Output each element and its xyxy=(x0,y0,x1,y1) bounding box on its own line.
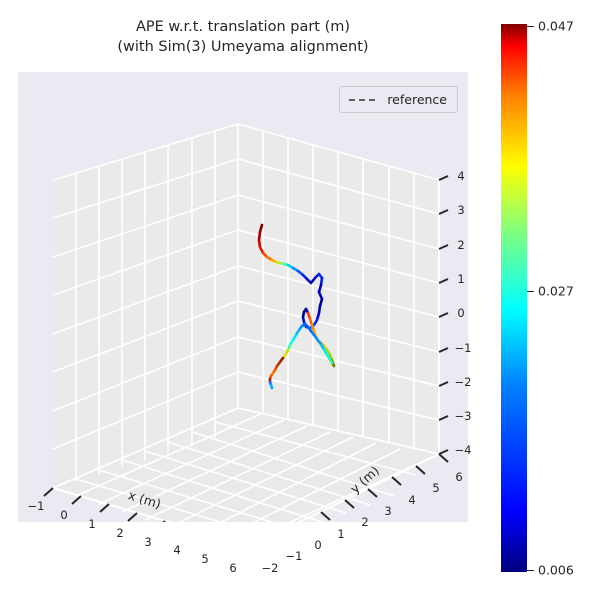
colorbar-tick-label-max: 0.047 xyxy=(538,19,574,34)
y-tick-label-7: 5 xyxy=(432,481,439,495)
y-tick-label-5: 3 xyxy=(384,504,391,518)
z-tick-label-8: −4 xyxy=(455,443,472,457)
x-tick-label-4: 3 xyxy=(144,535,151,549)
y-tick-label-2: 0 xyxy=(314,538,321,552)
y-tick-label-3: 1 xyxy=(337,527,344,541)
x-tick-label-3: 2 xyxy=(116,526,123,540)
page-title: APE w.r.t. translation part (m) (with Si… xyxy=(18,18,468,57)
legend-dashed-line-swatch xyxy=(348,95,378,105)
colorbar-tick-label-mid: 0.027 xyxy=(538,284,574,299)
y-tick-label-1: −1 xyxy=(286,549,303,563)
x-tick-label-0: −1 xyxy=(28,499,45,513)
y-tick-label-0: −2 xyxy=(262,561,279,575)
y-tick-label-8: 6 xyxy=(455,470,462,484)
colorbar-tick-mark-min xyxy=(527,570,534,571)
colorbar-tick-mark-max xyxy=(527,26,534,27)
x-tick-label-2: 1 xyxy=(88,517,95,531)
z-tick-label-1: 3 xyxy=(457,203,464,217)
y-tick-label-4: 2 xyxy=(361,515,368,529)
y-tick-label-6: 4 xyxy=(408,493,415,507)
x-tick-label-5: 4 xyxy=(173,543,180,557)
x-tick-label-7: 6 xyxy=(229,561,236,575)
figure-canvas: APE w.r.t. translation part (m) (with Si… xyxy=(0,0,600,600)
z-tick-label-2: 2 xyxy=(457,238,464,252)
z-tick-label-5: −1 xyxy=(455,341,472,355)
x-tick-label-6: 5 xyxy=(201,552,208,566)
plot-axes-3d: reference −1 0 1 2 3 4 5 6 −2 −1 0 1 2 3… xyxy=(18,72,468,522)
z-tick-label-0: 4 xyxy=(457,169,464,183)
x-tick-label-1: 0 xyxy=(60,508,67,522)
colorbar: 0.047 0.027 0.006 xyxy=(501,24,527,572)
axes-3d-drawing xyxy=(18,72,468,522)
z-tick-label-7: −3 xyxy=(455,409,472,423)
legend-label-reference: reference xyxy=(387,92,447,107)
colorbar-tick-label-min: 0.006 xyxy=(538,563,574,578)
z-tick-label-6: −2 xyxy=(455,375,472,389)
z-tick-label-3: 1 xyxy=(457,272,464,286)
colorbar-tick-mark-mid xyxy=(527,291,534,292)
legend[interactable]: reference xyxy=(339,86,458,113)
z-tick-label-4: 0 xyxy=(457,306,464,320)
colorbar-gradient xyxy=(501,24,527,572)
